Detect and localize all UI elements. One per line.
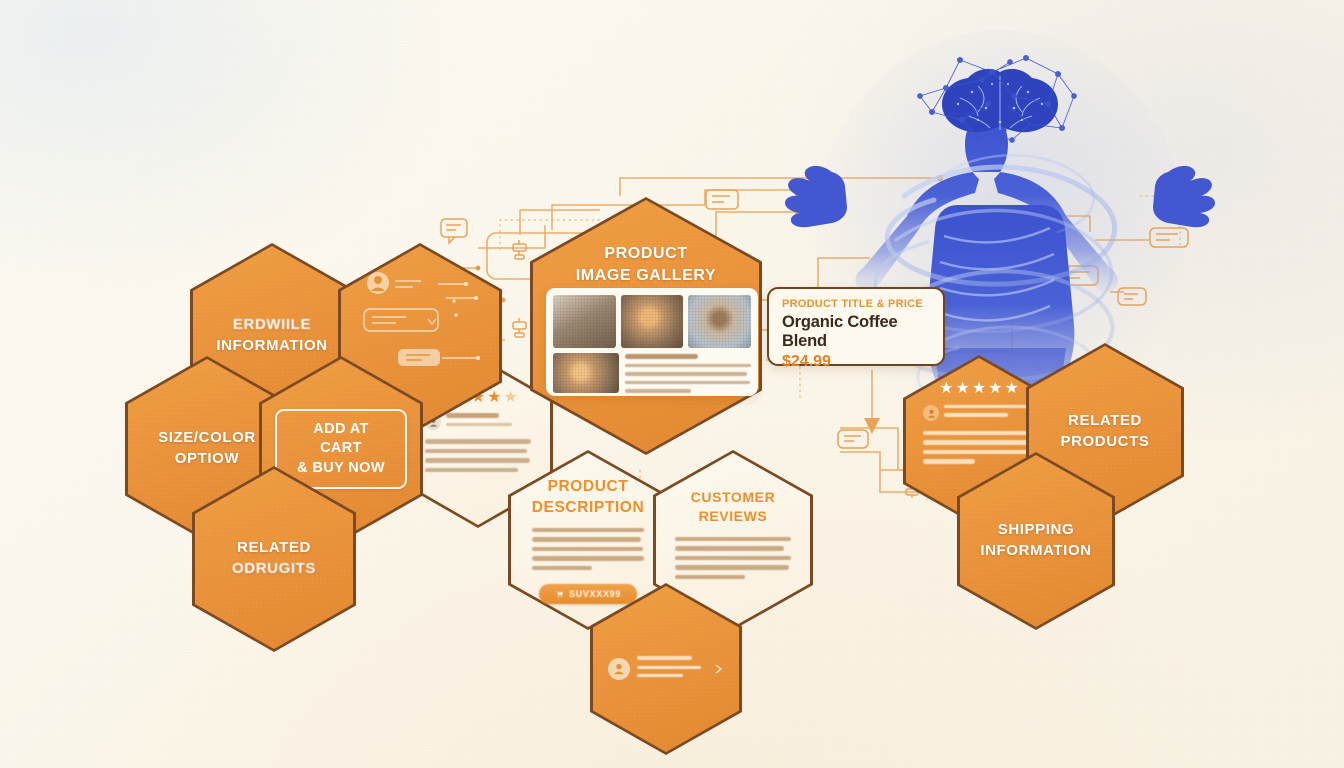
hex-label-line2: ODRUGITS <box>232 559 316 580</box>
avatar <box>608 658 630 680</box>
card-eyebrow-label: PRODUCT TITLE & PRICE <box>782 298 930 310</box>
star-half-icon: ★ <box>504 390 518 406</box>
star-icon: ★ <box>955 381 969 397</box>
description-body <box>532 528 644 576</box>
profile-label-top <box>637 656 692 660</box>
star-icon: ★ <box>939 381 953 397</box>
avatar <box>923 405 939 421</box>
gallery-caption-title <box>625 354 698 359</box>
gallery-thumbnail-cup-on-saucer[interactable] <box>688 295 751 348</box>
gallery-thumbnail-row <box>553 295 751 348</box>
reviews-body <box>675 537 791 585</box>
hex-label-line2: IMAGE GALLERY <box>576 265 717 287</box>
hex-label-line2: DESCRIPTION <box>532 497 645 518</box>
product-gallery-card[interactable] <box>546 288 758 396</box>
diagram-canvas: ERDWIILE INFORMATION <box>0 0 1344 768</box>
hex-label-line1: RELATED <box>237 538 311 559</box>
gallery-thumbnail-coffee-pots[interactable] <box>553 295 616 348</box>
gallery-caption <box>625 353 751 398</box>
hex-label-line1: PRODUCT <box>548 476 629 497</box>
gallery-thumbnail-latte-art[interactable] <box>553 353 619 393</box>
star-icon: ★ <box>1005 381 1019 397</box>
rating-star-row: ★ ★ ★ ★ ★ <box>939 381 1019 397</box>
hex-label-line1: CUSTOMER REVIEWS <box>675 488 791 527</box>
star-icon: ★ <box>972 381 986 397</box>
hex-bottom-profile[interactable] <box>590 583 742 755</box>
chevron-right-icon <box>714 663 724 675</box>
hex-related-products-left[interactable]: RELATED ODRUGITS <box>192 466 356 652</box>
hex-shipping-information[interactable]: SHIPPING INFORMATION <box>957 452 1115 630</box>
reviewer-name <box>944 405 1028 408</box>
hex-label-line1: SHIPPING <box>998 520 1074 541</box>
profile-label-line2 <box>637 674 683 677</box>
gallery-thumbnail-latte-top-down[interactable] <box>621 295 684 348</box>
cta-line1: ADD AT CART <box>292 420 389 458</box>
reviewer-sub <box>944 413 1008 416</box>
product-name: Organic Coffee Blend <box>782 313 930 351</box>
hex-label-line1: RELATED <box>1068 411 1142 432</box>
profile-label-line1 <box>637 666 701 669</box>
hex-label-line1: PRODUCT <box>604 243 687 265</box>
hex-label-line2: INFORMATION <box>216 336 327 357</box>
star-icon: ★ <box>988 381 1002 397</box>
product-title-price-card[interactable]: PRODUCT TITLE & PRICE Organic Coffee Ble… <box>767 287 945 366</box>
product-price: $24.99 <box>782 353 930 371</box>
hex-label-line2: INFORMATION <box>980 541 1091 562</box>
cart-icon <box>555 590 563 598</box>
hex-label-line2: PRODUCTS <box>1061 432 1150 453</box>
hex-label-line1: SIZE/COLOR <box>158 428 256 449</box>
hex-label-line1: ERDWIILE <box>233 315 311 336</box>
